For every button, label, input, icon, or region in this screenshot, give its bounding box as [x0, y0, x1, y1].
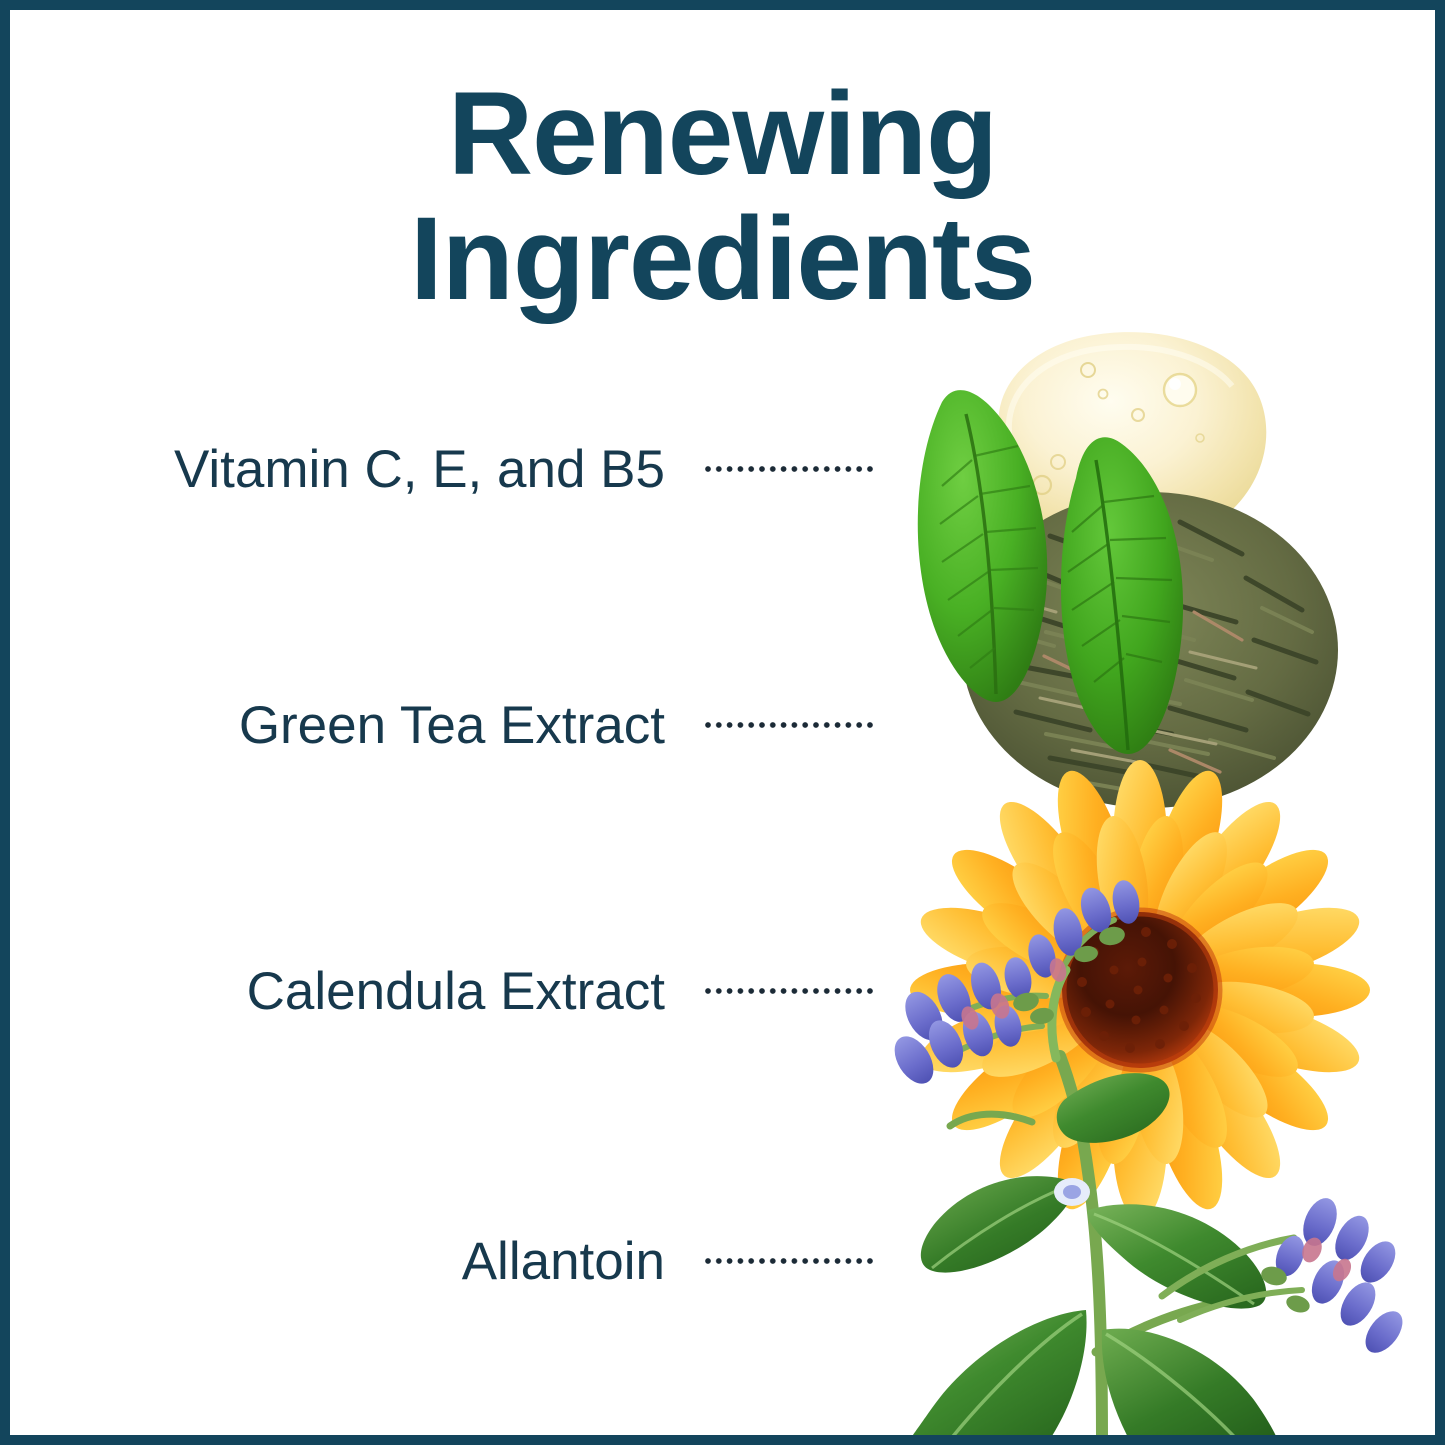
green-tea-leaves-image: [918, 390, 1338, 808]
ingredient-row-green-tea: Green Tea Extract: [10, 692, 875, 758]
title-line-2: Ingredients: [10, 197, 1435, 322]
ingredient-label-vitamins: Vitamin C, E, and B5: [174, 443, 665, 496]
ingredient-row-vitamins: Vitamin C, E, and B5: [10, 436, 875, 502]
title-line-1: Renewing: [10, 72, 1435, 197]
ingredient-row-calendula: Calendula Extract: [10, 958, 875, 1024]
ingredient-row-allantoin: Allantoin: [10, 1228, 875, 1294]
ingredients-infographic: Renewing Ingredients Vitamin C, E, and B…: [0, 0, 1445, 1445]
comfrey-bloom-accent: [1054, 1178, 1090, 1206]
page-title: Renewing Ingredients: [10, 72, 1435, 322]
ingredient-imagery-stack: [850, 310, 1435, 1445]
ingredient-label-allantoin: Allantoin: [462, 1235, 665, 1288]
comfrey-leaf-lower-right: [1102, 1329, 1280, 1445]
ingredient-label-green-tea: Green Tea Extract: [239, 699, 665, 752]
ingredient-label-calendula: Calendula Extract: [247, 965, 665, 1018]
ingredient-imagery-svg: [850, 310, 1435, 1445]
